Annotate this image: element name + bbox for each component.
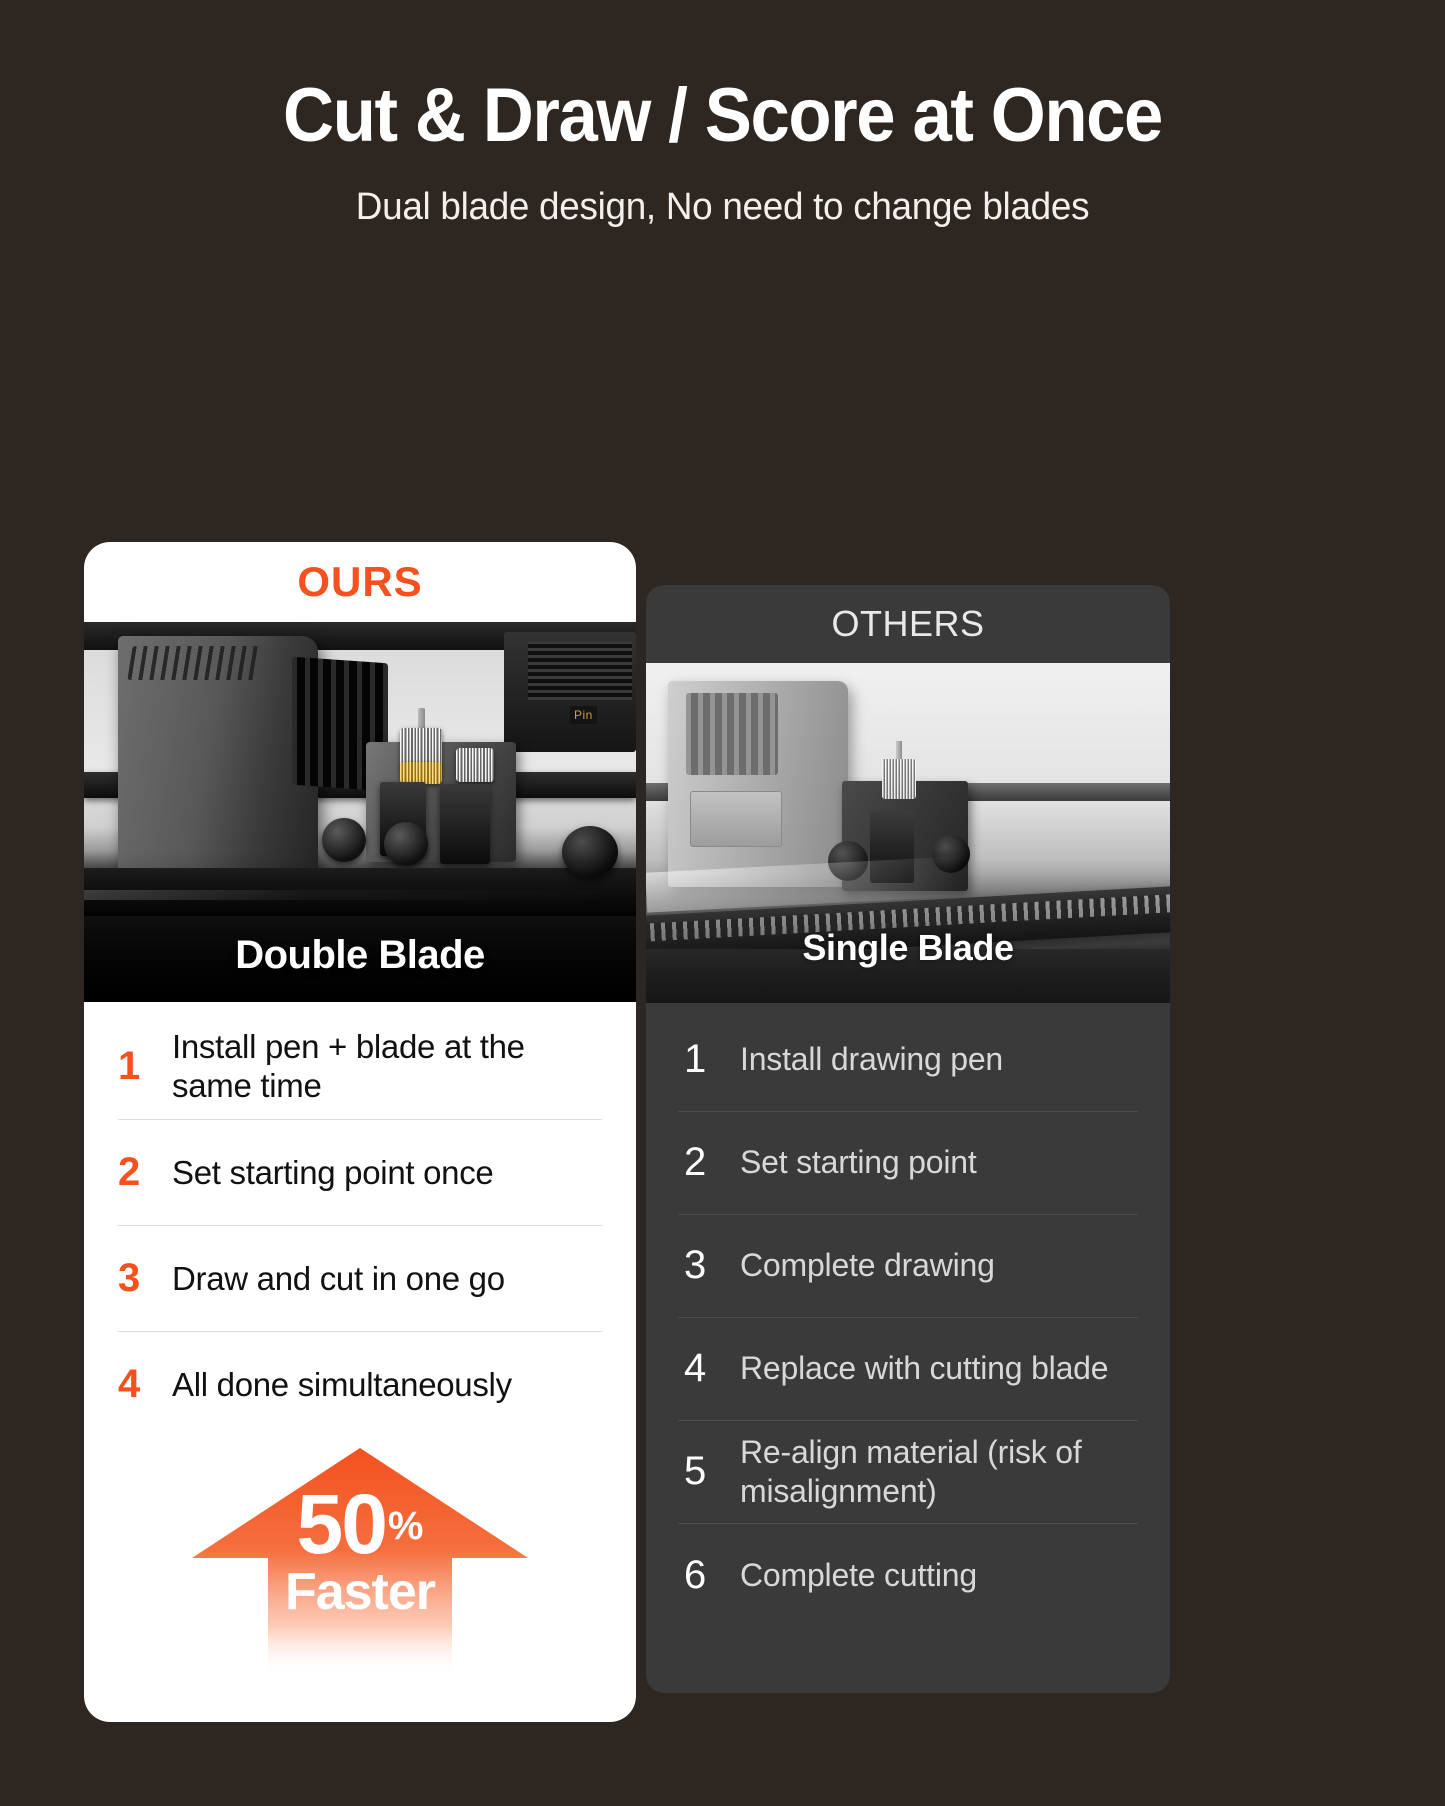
ours-card-header: OURS bbox=[84, 542, 636, 622]
step-number: 6 bbox=[678, 1553, 740, 1598]
list-item: 1 Install pen + blade at the same time bbox=[118, 1014, 602, 1120]
step-text: Install pen + blade at the same time bbox=[172, 1027, 602, 1106]
comparison-stage: OTHERS Single Bl bbox=[0, 247, 1445, 1747]
list-item: 4 All done simultaneously bbox=[118, 1332, 602, 1438]
step-number: 5 bbox=[678, 1449, 740, 1494]
ours-header-label: OURS bbox=[297, 558, 422, 606]
list-item: 3 Draw and cut in one go bbox=[118, 1226, 602, 1332]
step-text: Complete drawing bbox=[740, 1246, 995, 1285]
ours-steps-list: 1 Install pen + blade at the same time 2… bbox=[84, 1002, 636, 1438]
machine-brand-label: Pin bbox=[570, 706, 597, 724]
others-photo-caption: Single Blade bbox=[646, 927, 1170, 969]
step-text: Set starting point once bbox=[172, 1153, 493, 1193]
step-text: Set starting point bbox=[740, 1143, 977, 1182]
list-item: 2 Set starting point bbox=[678, 1112, 1138, 1215]
step-number: 4 bbox=[118, 1362, 172, 1407]
step-number: 3 bbox=[678, 1243, 740, 1288]
step-number: 1 bbox=[118, 1044, 172, 1089]
step-number: 2 bbox=[678, 1140, 740, 1185]
others-card-header: OTHERS bbox=[646, 585, 1170, 663]
ours-comparison-card: OURS bbox=[84, 542, 636, 1722]
page-header: Cut & Draw / Score at Once Dual blade de… bbox=[0, 0, 1445, 229]
page-subtitle: Dual blade design, No need to change bla… bbox=[22, 186, 1424, 229]
step-text: Draw and cut in one go bbox=[172, 1259, 505, 1299]
others-comparison-card: OTHERS Single Bl bbox=[646, 585, 1170, 1693]
up-arrow-icon bbox=[190, 1446, 530, 1676]
step-text: Replace with cutting blade bbox=[740, 1349, 1108, 1388]
step-number: 4 bbox=[678, 1346, 740, 1391]
silver-knob-icon bbox=[456, 748, 494, 782]
ours-product-photo: Pin Double Blade bbox=[84, 622, 636, 1002]
step-text: All done simultaneously bbox=[172, 1365, 512, 1405]
others-product-photo: Single Blade bbox=[646, 663, 1170, 1003]
list-item: 3 Complete drawing bbox=[678, 1215, 1138, 1318]
list-item: 1 Install drawing pen bbox=[678, 1009, 1138, 1112]
step-text: Complete cutting bbox=[740, 1556, 977, 1595]
list-item: 5 Re-align material (risk of misalignmen… bbox=[678, 1421, 1138, 1524]
step-number: 3 bbox=[118, 1256, 172, 1301]
others-header-label: OTHERS bbox=[831, 603, 984, 645]
step-number: 2 bbox=[118, 1150, 172, 1195]
others-steps-list: 1 Install drawing pen 2 Set starting poi… bbox=[646, 1003, 1170, 1627]
step-number: 1 bbox=[678, 1037, 740, 1082]
list-item: 6 Complete cutting bbox=[678, 1524, 1138, 1627]
list-item: 4 Replace with cutting blade bbox=[678, 1318, 1138, 1421]
list-item: 2 Set starting point once bbox=[118, 1120, 602, 1226]
gold-knob-icon bbox=[400, 762, 442, 784]
page-title: Cut & Draw / Score at Once bbox=[51, 76, 1395, 156]
faster-badge: 50 % Faster bbox=[84, 1446, 636, 1676]
step-text: Install drawing pen bbox=[740, 1040, 1003, 1079]
step-text: Re-align material (risk of misalignment) bbox=[740, 1433, 1138, 1511]
ours-photo-caption: Double Blade bbox=[84, 933, 636, 978]
